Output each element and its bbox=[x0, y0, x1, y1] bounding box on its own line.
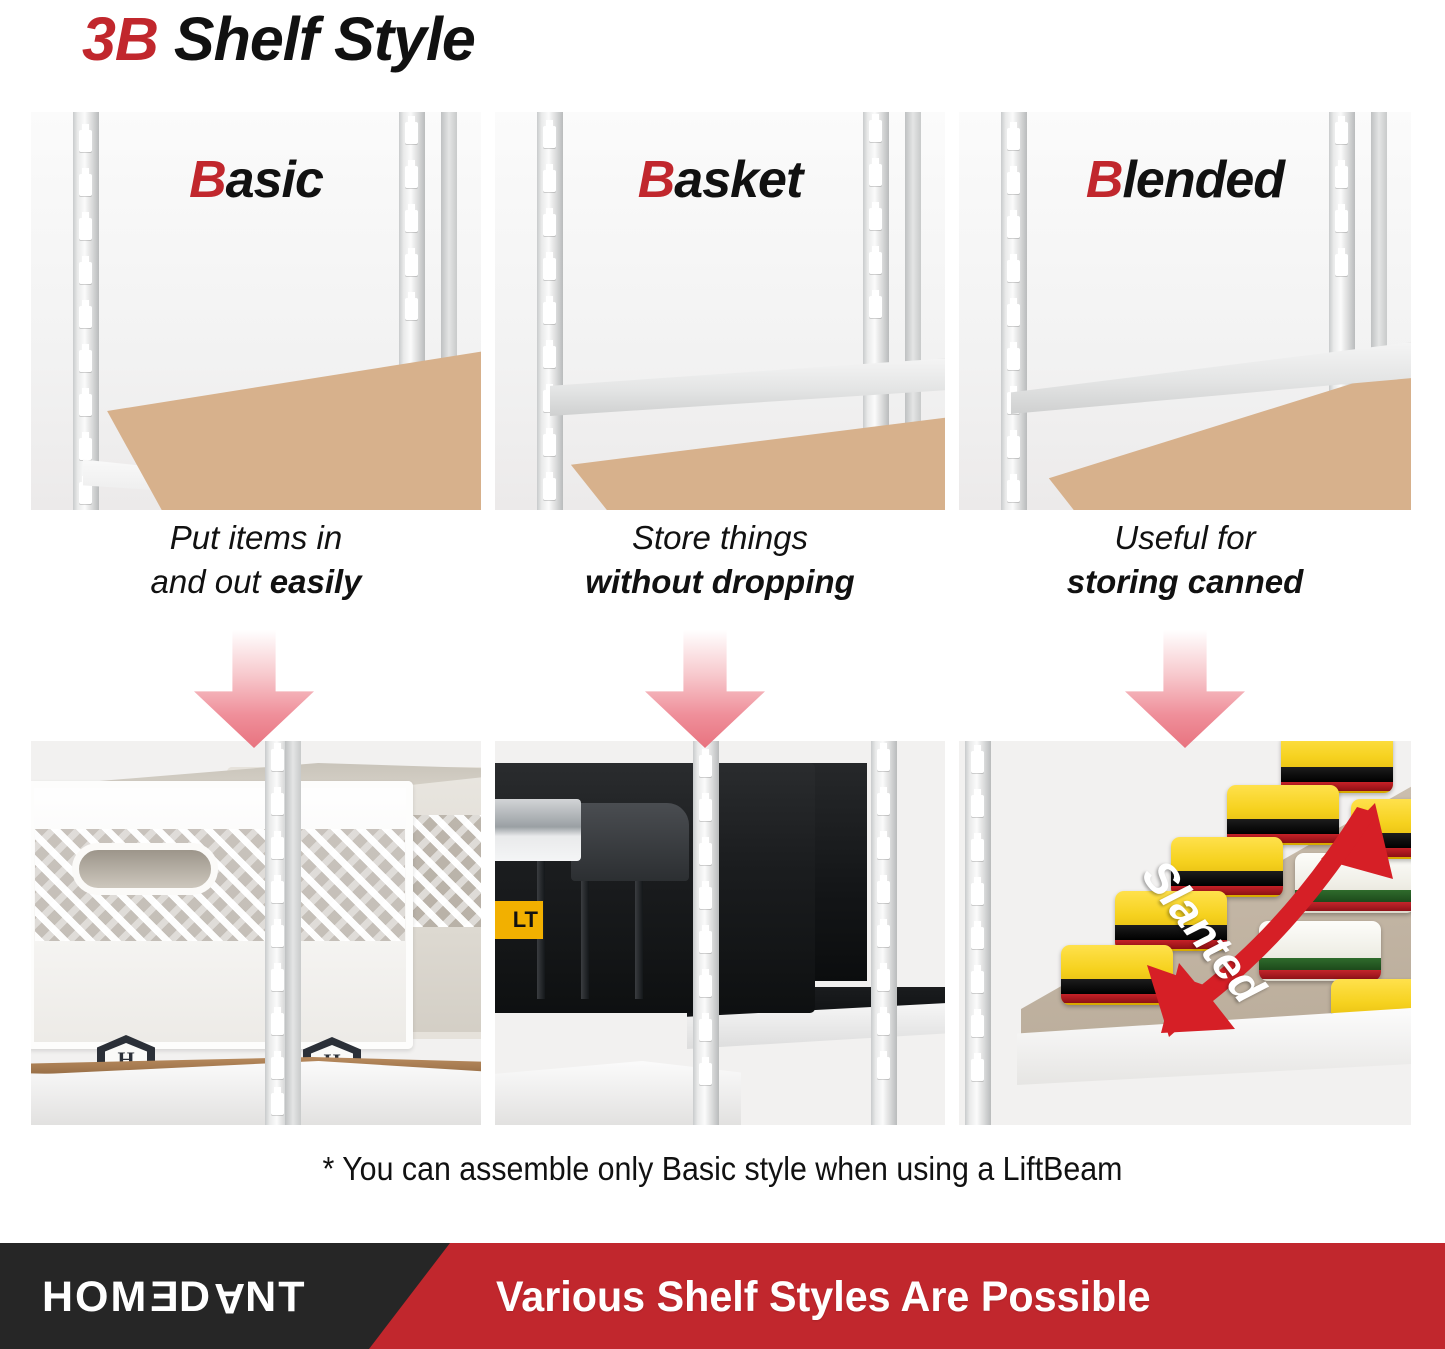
style-label-basic: Basic bbox=[31, 150, 481, 210]
caption-line-1: Store things bbox=[495, 516, 945, 560]
brand-logo: HOMEDANT bbox=[42, 1273, 306, 1322]
shelf-post-rear-icon bbox=[285, 741, 301, 1125]
caption-blended: Useful for storing canned bbox=[959, 516, 1411, 604]
caption-line-2: storing canned bbox=[959, 560, 1411, 604]
brand-flipped-e: E bbox=[148, 1273, 179, 1322]
caption-line-1: Useful for bbox=[959, 516, 1411, 560]
label-accent: B bbox=[1086, 151, 1123, 209]
photo-card-blended: Slanted bbox=[959, 741, 1411, 1125]
down-arrow-icon bbox=[194, 630, 314, 748]
shelf-post-left-icon bbox=[965, 741, 991, 1125]
style-label-blended: Blended bbox=[959, 150, 1411, 210]
caption-line-2: and out easily bbox=[31, 560, 481, 604]
down-arrow-icon bbox=[1125, 630, 1245, 748]
brand-part-1: HOM bbox=[42, 1273, 148, 1321]
footer-bar: HOMEDANT Various Shelf Styles Are Possib… bbox=[0, 1243, 1445, 1349]
footer-message: Various Shelf Styles Are Possible bbox=[496, 1273, 1151, 1322]
caption-line-1: Put items in bbox=[31, 516, 481, 560]
crate-handle-icon bbox=[72, 843, 218, 895]
toolbox-handle-icon bbox=[571, 803, 689, 881]
page-title-rest: Shelf Style bbox=[158, 5, 475, 73]
label-rest: lended bbox=[1122, 151, 1284, 209]
footnote: * You can assemble only Basic style when… bbox=[58, 1150, 1387, 1188]
caption-bold: storing canned bbox=[1067, 563, 1304, 600]
style-card-blended: Blended bbox=[959, 112, 1411, 510]
label-rest: asic bbox=[226, 151, 323, 209]
brand-part-3: NT bbox=[245, 1273, 306, 1321]
label-accent: B bbox=[638, 151, 675, 209]
caption-basic: Put items in and out easily bbox=[31, 516, 481, 604]
caption-basket: Store things without dropping bbox=[495, 516, 945, 604]
page-title: 3B Shelf Style bbox=[82, 4, 475, 74]
label-accent: B bbox=[189, 151, 226, 209]
toolbox-brand-label: LT bbox=[495, 901, 543, 939]
down-arrow-icon bbox=[645, 630, 765, 748]
caption-plain: and out bbox=[150, 563, 269, 600]
shelf-post-left-icon bbox=[693, 741, 719, 1125]
photo-card-basket: LT bbox=[495, 741, 945, 1125]
canned-goods-photo: Slanted bbox=[959, 741, 1411, 1125]
page-title-accent: 3B bbox=[82, 5, 158, 73]
caption-bold: easily bbox=[270, 563, 362, 600]
brand-triangle-a: A bbox=[212, 1273, 245, 1322]
style-label-basket: Basket bbox=[495, 150, 945, 210]
shelf-post-right-icon bbox=[871, 741, 897, 1125]
brand-part-2: D bbox=[179, 1273, 212, 1321]
milk-crate-front bbox=[31, 781, 413, 1049]
caption-line-2: without dropping bbox=[495, 560, 945, 604]
style-card-basket: Basket bbox=[495, 112, 945, 510]
infographic-page: 3B Shelf Style bbox=[0, 0, 1445, 1349]
metal-tray bbox=[495, 799, 581, 861]
crate-photo bbox=[31, 741, 481, 1125]
style-card-basic: Basic bbox=[31, 112, 481, 510]
photo-card-basic bbox=[31, 741, 481, 1125]
toolbox-photo: LT bbox=[495, 741, 945, 1125]
label-rest: asket bbox=[674, 151, 802, 209]
caption-bold: without dropping bbox=[585, 563, 854, 600]
